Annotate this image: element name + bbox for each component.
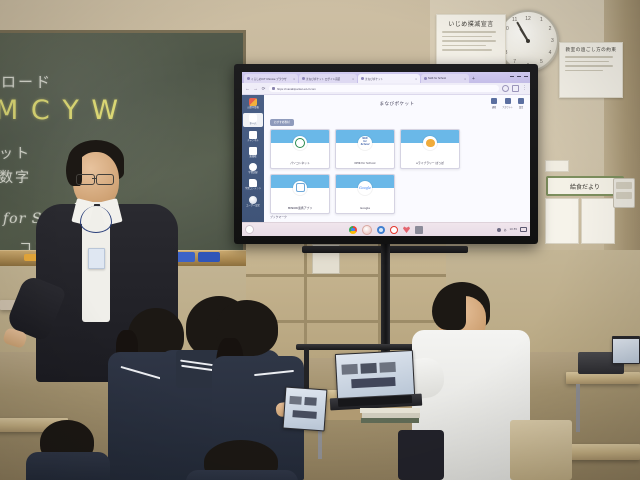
tab-favicon-icon: [424, 77, 427, 80]
wall-display: くらしのICT Chrome ブラウザ × まなびポケット ログイン画面 × ま…: [234, 64, 538, 244]
app-tile-label: eライブラリー ぽっぽ: [416, 161, 444, 165]
app-tile[interactable]: NHKforSchool NHK for School: [335, 129, 395, 169]
blackboard-line-2: M C Y W: [0, 95, 120, 126]
account-button[interactable]: アカウント: [502, 98, 513, 109]
tray-ime-label: あ: [504, 228, 507, 232]
display-stand-column: [381, 244, 390, 352]
channel-icon: [249, 131, 257, 139]
student-trousers: [398, 430, 444, 480]
record-app-icon[interactable]: [390, 226, 398, 234]
blackboard-line-1: ロード: [1, 71, 52, 92]
chair-back: [510, 420, 572, 480]
app-tile-label: パソコンネット: [290, 161, 310, 165]
account-icon: [505, 98, 511, 104]
app-tile-label: MINORI連携アプリ: [288, 206, 312, 210]
gear-icon: [518, 98, 524, 104]
files-app-icon[interactable]: [362, 225, 372, 235]
battery-icon: [520, 227, 527, 232]
poster-title: いじめ撲滅宣言: [437, 15, 505, 28]
lunch-sheet-right: [581, 198, 615, 244]
address-bar[interactable]: https://manabipocket.ed-cl.com: [269, 85, 499, 92]
home-icon: [249, 114, 257, 122]
action-label: 設定: [519, 105, 523, 109]
tab-favicon-icon: [247, 77, 250, 80]
sidebar-item-label: 学習記録: [248, 172, 257, 174]
poster-title: 教室の過ごし方の約束: [560, 43, 622, 53]
bookmarks-label: ブックマーク: [270, 215, 287, 219]
action-label: アカウント: [502, 105, 513, 109]
laptop-center-screen[interactable]: [335, 350, 415, 400]
classroom-screenshot: ロード M C Y W ット 数字 for School コンテンツ 12 1 …: [0, 0, 640, 480]
google-logo-icon: Google: [358, 181, 372, 195]
clock-numeral: 4: [549, 50, 552, 56]
pocket-logo-icon: [293, 136, 307, 150]
tab-title: NHK for School: [428, 77, 446, 80]
student-uniform: [26, 452, 110, 480]
app-tile-grid: パソコンネット NHKforSchool NHK for School: [270, 129, 524, 214]
new-tab-button[interactable]: +: [470, 76, 477, 83]
app-tile[interactable]: MINORI連携アプリ: [270, 174, 330, 214]
section-chip: おすすめ教材: [270, 119, 294, 126]
clock-numeral: 2: [549, 26, 552, 32]
address-bar-url: https://manabipocket.ed-cl.com: [277, 87, 316, 91]
blackboard-line-3: ット: [0, 143, 31, 163]
extensions-icon[interactable]: [502, 85, 509, 92]
display-screen: くらしのICT Chrome ブラウザ × まなびポケット ログイン画面 × ま…: [242, 72, 530, 236]
system-tray[interactable]: あ 10:55: [497, 227, 527, 232]
sidebar-item-home[interactable]: ホーム: [243, 113, 263, 126]
app-tile[interactable]: Google Google: [335, 174, 395, 214]
wall-clock: 12 1 2 3 4 5 6 7 8 9 10 11: [497, 10, 559, 72]
web-page: 公開中情報 ホーム チャンネル 連絡帳: [242, 95, 530, 222]
gmail-app-icon[interactable]: [415, 226, 423, 234]
page-title: まなびポケット: [380, 101, 415, 107]
ime-indicator[interactable]: [497, 228, 501, 232]
lunch-news-title: 給食だより: [570, 182, 600, 191]
tab-close-icon[interactable]: ×: [293, 77, 295, 81]
tab-close-icon[interactable]: ×: [415, 77, 417, 81]
classroom-app-icon[interactable]: [377, 226, 385, 234]
chromeos-window: くらしのICT Chrome ブラウザ × まなびポケット ログイン画面 × ま…: [242, 72, 530, 236]
browser-tab[interactable]: NHK for School ×: [421, 74, 469, 83]
browser-tab[interactable]: まなびポケット ログイン画面 ×: [299, 74, 357, 83]
portal-content: まなびポケット 通知 アカウント: [264, 95, 530, 222]
lanyard: [80, 206, 112, 233]
clock-numeral: 12: [525, 16, 531, 22]
clock-center-pin: [526, 39, 530, 43]
book-stack: [361, 418, 419, 423]
chromeos-shelf: あ 10:55: [242, 222, 530, 236]
back-icon[interactable]: ←: [245, 86, 250, 91]
lunch-sheet-left: [545, 198, 579, 244]
sidebar-item-label: 連絡帳: [250, 156, 257, 158]
minori-icon: [293, 181, 307, 195]
chrome-app-icon[interactable]: [349, 226, 357, 234]
portal-actions: 通知 アカウント 設定: [491, 98, 524, 109]
laptop-far-right-screen[interactable]: [612, 338, 640, 364]
action-label: 通知: [492, 105, 496, 109]
browser-tabstrip: くらしのICT Chrome ブラウザ × まなびポケット ログイン画面 × ま…: [242, 72, 530, 83]
duster-blue-2-icon: [198, 252, 220, 262]
app-tile[interactable]: eライブラリー ぽっぽ: [400, 129, 460, 169]
laptop-left-display: [284, 388, 327, 431]
multi-color-icon: [249, 98, 257, 106]
sidebar-item-label: チャンネル: [247, 140, 258, 142]
browser-toolbar: ← → ⟳ https://manabipocket.ed-cl.com ⋮: [242, 83, 530, 95]
lock-icon: [272, 87, 275, 90]
tab-title: まなびポケット: [365, 77, 383, 81]
sidebar-item-user-settings[interactable]: ユーザー設定: [243, 195, 263, 208]
forward-icon[interactable]: →: [253, 86, 258, 91]
tray-time: 10:55: [510, 228, 517, 231]
sidebar-item-study-record[interactable]: 学習記録: [243, 162, 263, 175]
heart-app-icon[interactable]: [403, 226, 410, 233]
laptop-left-screen[interactable]: [283, 387, 328, 432]
thermostat-panel[interactable]: [613, 178, 635, 208]
glasses-right-lens-icon: [96, 174, 114, 185]
sidebar-item-label: ユーザー設定: [246, 205, 260, 207]
browser-tab-active[interactable]: まなびポケット ×: [358, 74, 420, 83]
tab-favicon-icon: [302, 77, 305, 80]
avatar-icon: [249, 196, 257, 204]
browser-tab[interactable]: くらしのICT Chrome ブラウザ ×: [244, 74, 298, 83]
laptop-center-display: [336, 351, 414, 399]
clock-numeral: 1: [540, 17, 543, 23]
glasses-left-lens-icon: [76, 174, 95, 185]
glasses-bridge-icon: [92, 178, 97, 179]
desk-leg: [576, 384, 580, 432]
circle-icon: [249, 163, 257, 171]
folder-icon: [249, 179, 257, 187]
tab-close-icon[interactable]: ×: [352, 77, 354, 81]
laptop-far-right-display: [613, 339, 639, 363]
notifications-button[interactable]: 通知: [491, 98, 497, 109]
portal-sidebar: 公開中情報 ホーム チャンネル 連絡帳: [242, 95, 264, 222]
profile-icon[interactable]: [512, 85, 519, 92]
blackboard-line-4: 数字: [0, 167, 31, 187]
window-controls[interactable]: [510, 73, 528, 77]
class-goals-poster: 教室の過ごし方の約束: [559, 42, 623, 98]
tab-title: くらしのICT Chrome ブラウザ: [251, 77, 287, 81]
student-hair-side: [432, 288, 466, 330]
bell-icon: [491, 98, 497, 104]
app-tile-label: Google: [360, 206, 370, 210]
sidebar-item-label: 学習コンテンツ: [245, 188, 261, 190]
app-tile-label: NHK for School: [355, 161, 376, 165]
sidebar-item-label: ホーム: [250, 123, 257, 125]
student-uniform: [186, 470, 298, 480]
portal-header: まなびポケット 通知 アカウント: [270, 98, 524, 110]
clock-numeral: 5: [540, 59, 543, 65]
sidebar-item-contact-book[interactable]: 連絡帳: [243, 146, 263, 159]
settings-button[interactable]: 設定: [518, 98, 524, 109]
teacher-id-badge: [88, 248, 105, 269]
browser-menu-icon[interactable]: ⋮: [522, 86, 527, 91]
sidebar-item-channel[interactable]: チャンネル: [243, 130, 263, 143]
tab-close-icon[interactable]: ×: [464, 77, 466, 81]
sidebar-item-label: 公開中情報: [247, 107, 259, 109]
tab-title: まなびポケット ログイン画面: [306, 77, 340, 81]
reload-icon[interactable]: ⟳: [261, 86, 266, 91]
launcher-button[interactable]: [245, 225, 254, 234]
sidebar-item-contents[interactable]: 学習コンテンツ: [243, 178, 263, 191]
sidebar-item-public-info[interactable]: 公開中情報: [243, 97, 263, 110]
bird-icon: [423, 136, 437, 150]
clock-numeral: 3: [551, 38, 554, 44]
wall-note-small: [545, 160, 569, 172]
nhk-logo-icon: NHKforSchool: [358, 136, 372, 150]
tab-favicon-icon: [361, 77, 364, 80]
doc-icon: [249, 147, 257, 155]
app-tile[interactable]: パソコンネット: [270, 129, 330, 169]
